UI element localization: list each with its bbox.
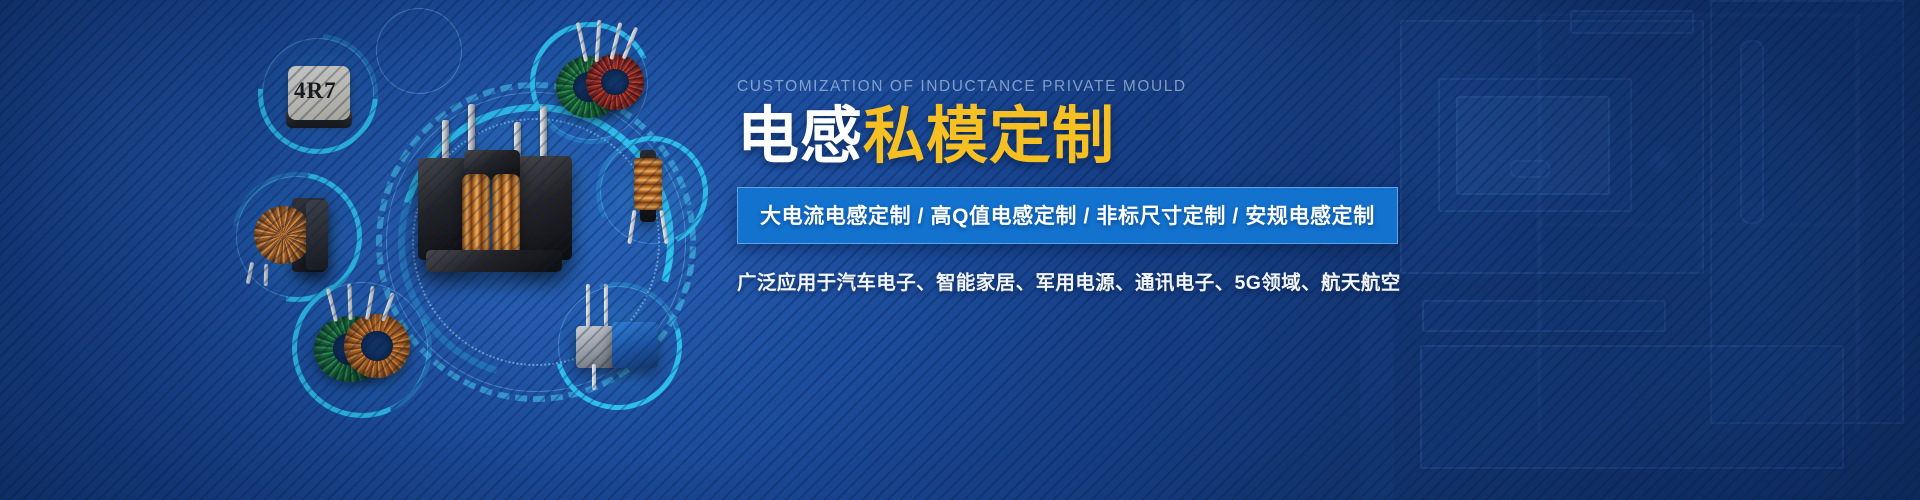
- feature-bar-text: 大电流电感定制 / 高Q值电感定制 / 非标尺寸定制 / 安规电感定制: [760, 205, 1375, 228]
- banner-headline: 电感私模定制: [737, 104, 1397, 171]
- banner-eyebrow-english: CUSTOMIZATION OF INDUCTANCE PRIVATE MOUL…: [737, 78, 1397, 96]
- headline-primary-text: 电感: [737, 102, 863, 171]
- headline-accent-text: 私模定制: [863, 102, 1115, 171]
- feature-bar[interactable]: 大电流电感定制 / 高Q值电感定制 / 非标尺寸定制 / 安规电感定制: [737, 187, 1398, 244]
- promotional-banner: 4R7: [0, 0, 1920, 500]
- banner-tagline: 广泛应用于汽车电子、智能家居、军用电源、通讯电子、5G领域、航天航空: [737, 266, 1397, 295]
- banner-copy: CUSTOMIZATION OF INDUCTANCE PRIVATE MOUL…: [737, 78, 1397, 295]
